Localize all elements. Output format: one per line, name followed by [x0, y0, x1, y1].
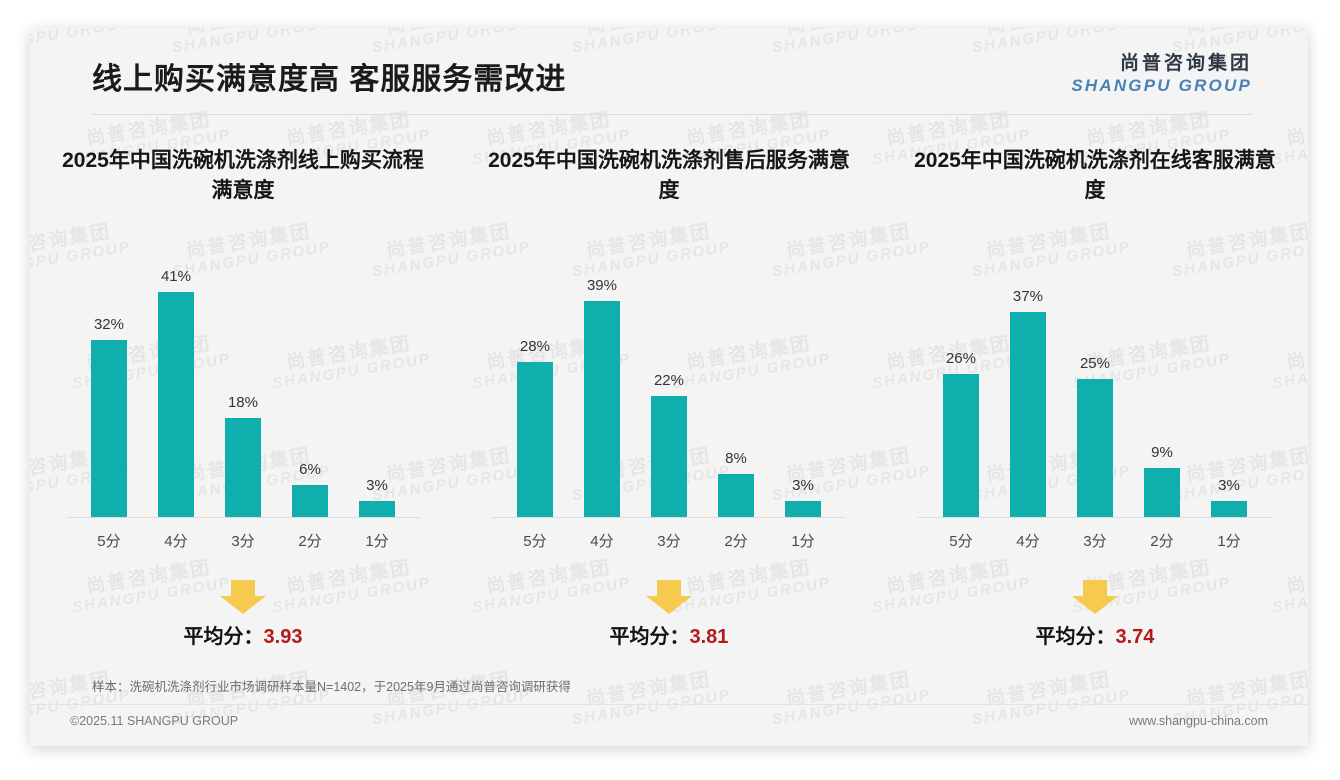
- average-score-value: 3.93: [264, 626, 303, 648]
- x-tick-label: 5分: [78, 530, 141, 551]
- down-arrow-icon: [220, 580, 266, 614]
- bar-value-label: 41%: [161, 268, 191, 285]
- header-divider: [92, 114, 1252, 115]
- bar-value-label: 8%: [725, 450, 747, 467]
- average-score-value: 3.81: [690, 626, 729, 648]
- x-tick-label: 3分: [212, 530, 275, 551]
- bar-rect[interactable]: [359, 501, 395, 518]
- bar-rect[interactable]: [225, 418, 261, 518]
- bar-item[interactable]: 9%: [1131, 268, 1194, 518]
- average-score-text: 平均分：3.74: [898, 620, 1292, 649]
- bar-rect[interactable]: [1010, 312, 1046, 518]
- bar-item[interactable]: 39%: [571, 268, 634, 518]
- x-tick-label: 2分: [705, 530, 768, 551]
- bar-group: 32%41%18%6%3%: [78, 268, 409, 518]
- logo-chinese-text: 尚普咨询集团: [1071, 53, 1252, 76]
- bar-rect[interactable]: [1077, 379, 1113, 518]
- brand-logo: 尚普咨询集团 SHANGPU GROUP: [1071, 53, 1252, 96]
- x-tick-label: 4分: [571, 530, 634, 551]
- bar-value-label: 26%: [946, 350, 976, 367]
- bar-group: 28%39%22%8%3%: [504, 268, 835, 518]
- x-tick-label: 3分: [638, 530, 701, 551]
- bar-rect[interactable]: [1211, 501, 1247, 518]
- x-axis-tick-labels: 5分4分3分2分1分: [78, 518, 409, 551]
- average-score-label: 平均分：: [610, 626, 690, 648]
- x-tick-label: 1分: [772, 530, 835, 551]
- chart-title: 2025年中国洗碗机洗涤剂线上购买流程满意度: [46, 146, 440, 208]
- bar-value-label: 25%: [1080, 355, 1110, 372]
- bar-item[interactable]: 3%: [1198, 268, 1261, 518]
- x-tick-label: 2分: [279, 530, 342, 551]
- bar-value-label: 3%: [366, 477, 388, 494]
- chart-plot-area: 32%41%18%6%3%5分4分3分2分1分: [46, 268, 440, 518]
- bar-value-label: 6%: [299, 461, 321, 478]
- chart-panel-3: 2025年中国洗碗机洗涤剂在线客服满意度26%37%25%9%3%5分4分3分2…: [882, 146, 1308, 649]
- x-tick-label: 1分: [1198, 530, 1261, 551]
- x-axis-tick-labels: 5分4分3分2分1分: [504, 518, 835, 551]
- bar-value-label: 3%: [1218, 477, 1240, 494]
- chart-panel-2: 2025年中国洗碗机洗涤剂售后服务满意度28%39%22%8%3%5分4分3分2…: [456, 146, 882, 649]
- bar-item[interactable]: 26%: [929, 268, 992, 518]
- down-arrow-icon: [1072, 580, 1118, 614]
- chart-plot-area: 28%39%22%8%3%5分4分3分2分1分: [472, 268, 866, 518]
- bar-rect[interactable]: [785, 501, 821, 518]
- slide-footer: ©2025.11 SHANGPU GROUP www.shangpu-china…: [70, 714, 1268, 728]
- bar-value-label: 22%: [654, 372, 684, 389]
- website-link[interactable]: www.shangpu-china.com: [1129, 714, 1268, 728]
- bar-rect[interactable]: [943, 374, 979, 518]
- bar-group: 26%37%25%9%3%: [929, 268, 1260, 518]
- down-arrow-icon: [646, 580, 692, 614]
- bar-rect[interactable]: [718, 474, 754, 518]
- logo-english-text: SHANGPU GROUP: [1071, 76, 1252, 96]
- slide-header: 线上购买满意度高 客服服务需改进 尚普咨询集团 SHANGPU GROUP: [30, 28, 1308, 114]
- average-score-text: 平均分：3.81: [472, 620, 866, 649]
- bar-value-label: 3%: [792, 477, 814, 494]
- bar-item[interactable]: 3%: [772, 268, 835, 518]
- charts-row: 2025年中国洗碗机洗涤剂线上购买流程满意度32%41%18%6%3%5分4分3…: [30, 146, 1308, 649]
- footer-divider: [30, 704, 1308, 705]
- x-tick-label: 4分: [145, 530, 208, 551]
- bar-value-label: 18%: [228, 394, 258, 411]
- chart-panel-1: 2025年中国洗碗机洗涤剂线上购买流程满意度32%41%18%6%3%5分4分3…: [30, 146, 456, 649]
- average-score-value: 3.74: [1115, 626, 1154, 648]
- x-axis-tick-labels: 5分4分3分2分1分: [929, 518, 1260, 551]
- x-tick-label: 5分: [929, 530, 992, 551]
- average-score-block: 平均分：3.74: [898, 580, 1292, 649]
- bar-item[interactable]: 28%: [504, 268, 567, 518]
- x-tick-label: 3分: [1064, 530, 1127, 551]
- sample-footnote: 样本：洗碗机洗涤剂行业市场调研样本量N=1402，于2025年9月通过尚普咨询调…: [92, 676, 571, 695]
- bar-item[interactable]: 8%: [705, 268, 768, 518]
- x-tick-label: 1分: [346, 530, 409, 551]
- bar-rect[interactable]: [91, 340, 127, 518]
- average-score-label: 平均分：: [1035, 626, 1115, 648]
- chart-title: 2025年中国洗碗机洗涤剂在线客服满意度: [898, 146, 1292, 208]
- bar-item[interactable]: 32%: [78, 268, 141, 518]
- x-tick-label: 2分: [1131, 530, 1194, 551]
- bar-item[interactable]: 37%: [997, 268, 1060, 518]
- page-title: 线上购买满意度高 客服服务需改进: [92, 54, 566, 98]
- x-tick-label: 5分: [504, 530, 567, 551]
- bar-item[interactable]: 6%: [279, 268, 342, 518]
- bar-item[interactable]: 18%: [212, 268, 275, 518]
- bar-rect[interactable]: [292, 485, 328, 518]
- bar-item[interactable]: 25%: [1064, 268, 1127, 518]
- bar-value-label: 9%: [1151, 444, 1173, 461]
- bar-item[interactable]: 22%: [638, 268, 701, 518]
- bar-rect[interactable]: [1144, 468, 1180, 518]
- bar-value-label: 39%: [587, 277, 617, 294]
- bar-item[interactable]: 41%: [145, 268, 208, 518]
- slide-card: 尚普咨询集团SHANGPU GROUP尚普咨询集团SHANGPU GROUP尚普…: [30, 28, 1308, 746]
- bar-value-label: 37%: [1013, 288, 1043, 305]
- bar-rect[interactable]: [158, 292, 194, 518]
- bar-value-label: 28%: [520, 338, 550, 355]
- bar-item[interactable]: 3%: [346, 268, 409, 518]
- x-tick-label: 4分: [997, 530, 1060, 551]
- chart-title: 2025年中国洗碗机洗涤剂售后服务满意度: [472, 146, 866, 208]
- chart-plot-area: 26%37%25%9%3%5分4分3分2分1分: [898, 268, 1292, 518]
- average-score-label: 平均分：: [184, 626, 264, 648]
- copyright-text: ©2025.11 SHANGPU GROUP: [70, 714, 238, 728]
- bar-value-label: 32%: [94, 316, 124, 333]
- average-score-text: 平均分：3.93: [46, 620, 440, 649]
- average-score-block: 平均分：3.93: [46, 580, 440, 649]
- bar-rect[interactable]: [584, 301, 620, 518]
- bar-rect[interactable]: [517, 362, 553, 518]
- average-score-block: 平均分：3.81: [472, 580, 866, 649]
- bar-rect[interactable]: [651, 396, 687, 518]
